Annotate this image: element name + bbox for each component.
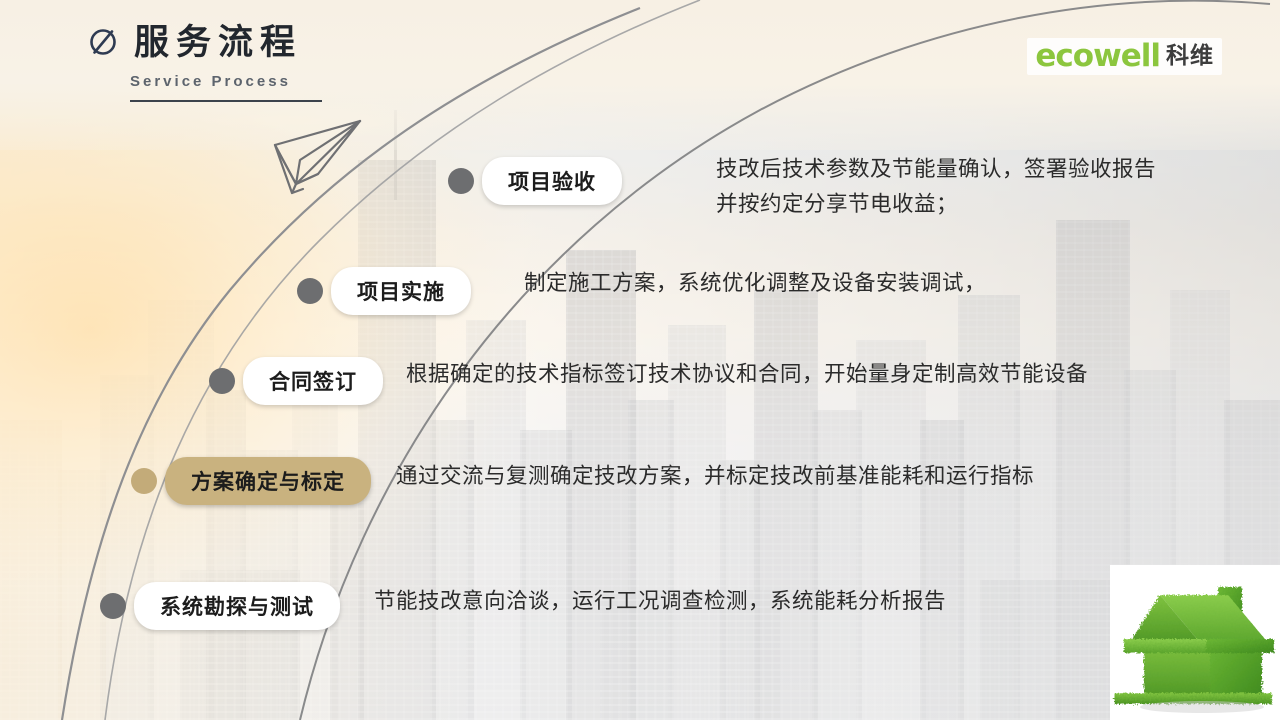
- step-label-pill[interactable]: 项目实施: [331, 267, 471, 315]
- step-marker-dot: [131, 468, 157, 494]
- step-acceptance[interactable]: 项目验收: [448, 157, 622, 205]
- step-survey-test[interactable]: 系统勘探与测试: [100, 582, 340, 630]
- desc-line: 节能技改意向洽谈，运行工况调查检测，系统能耗分析报告: [374, 584, 946, 619]
- desc-line: 技改后技术参数及节能量确认，签署验收报告: [716, 152, 1156, 187]
- title-underline: [130, 100, 322, 102]
- step-contract-description: 根据确定的技术指标签订技术协议和合同，开始量身定制高效节能设备: [406, 357, 1088, 392]
- brand-logo: ecowell 科维: [1027, 38, 1222, 75]
- leaf-mark-icon: [86, 27, 120, 61]
- step-contract[interactable]: 合同签订: [209, 357, 383, 405]
- step-plan-calibration-description: 通过交流与复测确定技改方案，并标定技改前基准能耗和运行指标: [396, 459, 1034, 494]
- brand-logo-cn: 科维: [1166, 45, 1214, 68]
- step-marker-dot: [100, 593, 126, 619]
- step-acceptance-description: 技改后技术参数及节能量确认，签署验收报告 并按约定分享节电收益；: [716, 152, 1156, 223]
- step-implementation-description: 制定施工方案，系统优化调整及设备安装调试，: [524, 266, 986, 301]
- page-title: 服务流程: [134, 26, 302, 61]
- step-plan-calibration[interactable]: 方案确定与标定: [131, 457, 371, 505]
- step-label-pill[interactable]: 项目验收: [482, 157, 622, 205]
- step-marker-dot: [448, 168, 474, 194]
- page-subtitle: Service Process: [130, 73, 322, 90]
- step-label-pill[interactable]: 方案确定与标定: [165, 457, 371, 505]
- page-header: 服务流程 Service Process: [86, 26, 322, 102]
- step-survey-test-description: 节能技改意向洽谈，运行工况调查检测，系统能耗分析报告: [374, 584, 946, 619]
- step-marker-dot: [209, 368, 235, 394]
- step-label-pill[interactable]: 合同签订: [243, 357, 383, 405]
- step-implementation[interactable]: 项目实施: [297, 267, 471, 315]
- step-label-pill[interactable]: 系统勘探与测试: [134, 582, 340, 630]
- green-grass-house-photo: [1110, 565, 1280, 720]
- brand-logo-latin: ecowell: [1035, 41, 1160, 72]
- step-marker-dot: [297, 278, 323, 304]
- desc-line: 通过交流与复测确定技改方案，并标定技改前基准能耗和运行指标: [396, 459, 1034, 494]
- desc-line: 制定施工方案，系统优化调整及设备安装调试，: [524, 266, 986, 301]
- desc-line: 并按约定分享节电收益；: [716, 187, 1156, 222]
- slide-canvas: 服务流程 Service Process ecowell 科维 项目验收 技改后…: [0, 0, 1280, 720]
- paper-plane-icon: [275, 121, 360, 193]
- desc-line: 根据确定的技术指标签订技术协议和合同，开始量身定制高效节能设备: [406, 357, 1088, 392]
